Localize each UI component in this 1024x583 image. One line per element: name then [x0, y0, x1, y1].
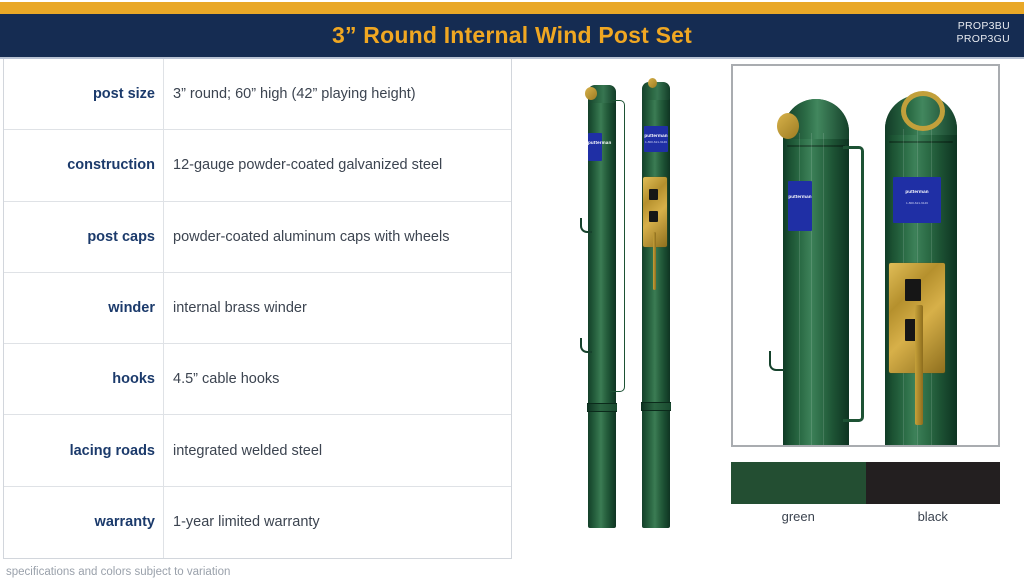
brass-cap-wheel-icon: [585, 87, 597, 100]
winder-handle: [915, 305, 923, 425]
table-row: lacing roads integrated welded steel: [4, 415, 511, 486]
closeup-post-right: putterman 1-800-621-9146: [885, 95, 957, 447]
spec-value: 12-gauge powder-coated galvanized steel: [164, 130, 511, 200]
table-row: winder internal brass winder: [4, 273, 511, 344]
spec-value: 1-year limited warranty: [164, 487, 511, 558]
winder-slot: [905, 279, 921, 301]
lacing-rod: [843, 146, 864, 422]
ground-sleeve: [641, 409, 672, 528]
brand-label: putterman: [588, 133, 602, 161]
brass-cap-wheel-icon: [777, 113, 799, 139]
spec-value: 3” round; 60” high (42” playing height): [164, 59, 511, 129]
brass-cap-wheel-icon: [648, 78, 657, 88]
sku-code-2: PROP3GU: [957, 33, 1010, 46]
product-closeup-photo: putterman putterman 1-800-621-9146: [731, 64, 1000, 447]
table-row: post size 3” round; 60” high (42” playin…: [4, 59, 511, 130]
page-title: 3” Round Internal Wind Post Set: [0, 14, 1024, 57]
post-right-full: putterman 1-800-621-9146: [642, 82, 670, 528]
brass-lifting-ring-icon: [901, 91, 945, 131]
spec-label: hooks: [4, 344, 164, 414]
top-accent-bar: [0, 2, 1024, 14]
spec-label: lacing roads: [4, 415, 164, 485]
winder-slot: [649, 211, 658, 222]
post-cap-seam: [889, 141, 952, 143]
brand-label-phone: 1-800-621-9146: [644, 140, 668, 144]
color-swatch-bar: [731, 462, 1000, 504]
full-length-posts-image: putterman putterman 1-800-621-9146: [560, 60, 725, 540]
header-bar: 3” Round Internal Wind Post Set PROP3BU …: [0, 14, 1024, 57]
specifications-table: post size 3” round; 60” high (42” playin…: [3, 59, 512, 559]
winder-slot: [649, 189, 658, 200]
lacing-rod: [610, 100, 625, 392]
disclaimer-text: specifications and colors subject to var…: [6, 566, 230, 578]
brand-label: putterman 1-800-621-9146: [644, 126, 668, 152]
spec-label: construction: [4, 130, 164, 200]
closeup-post-left: putterman: [783, 99, 849, 447]
table-row: hooks 4.5” cable hooks: [4, 344, 511, 415]
post-shaft: [783, 99, 849, 447]
spec-value: 4.5” cable hooks: [164, 344, 511, 414]
swatch-black: [866, 462, 1001, 504]
brand-label-text: putterman: [893, 189, 941, 194]
winder-handle: [653, 232, 656, 290]
table-row: construction 12-gauge powder-coated galv…: [4, 130, 511, 201]
color-swatch-labels: green black: [731, 509, 1000, 524]
swatch-green: [731, 462, 866, 504]
brand-label-text: putterman: [644, 133, 668, 138]
ground-sleeve: [587, 410, 618, 528]
swatch-label-black: black: [866, 509, 1001, 524]
post-cap-seam: [787, 145, 845, 147]
brand-label-phone: 1-800-621-9146: [893, 201, 941, 205]
post-flute: [823, 133, 824, 447]
spec-value: integrated welded steel: [164, 415, 511, 485]
photo-background: [733, 66, 998, 445]
brand-label: putterman: [788, 181, 812, 231]
spec-value: internal brass winder: [164, 273, 511, 343]
cable-hook-icon: [769, 351, 785, 371]
spec-label: winder: [4, 273, 164, 343]
table-row: post caps powder-coated aluminum caps wi…: [4, 202, 511, 273]
sku-codes: PROP3BU PROP3GU: [957, 20, 1010, 45]
cable-hook-icon: [580, 218, 592, 233]
spec-label: warranty: [4, 487, 164, 558]
table-row: warranty 1-year limited warranty: [4, 487, 511, 558]
cable-hook-icon: [580, 338, 592, 353]
swatch-label-green: green: [731, 509, 866, 524]
brand-label: putterman 1-800-621-9146: [893, 177, 941, 223]
spec-value: powder-coated aluminum caps with wheels: [164, 202, 511, 272]
spec-label: post caps: [4, 202, 164, 272]
brand-label-text: putterman: [588, 140, 602, 145]
brand-label-text: putterman: [788, 194, 812, 199]
spec-label: post size: [4, 59, 164, 129]
sku-code-1: PROP3BU: [957, 20, 1010, 33]
